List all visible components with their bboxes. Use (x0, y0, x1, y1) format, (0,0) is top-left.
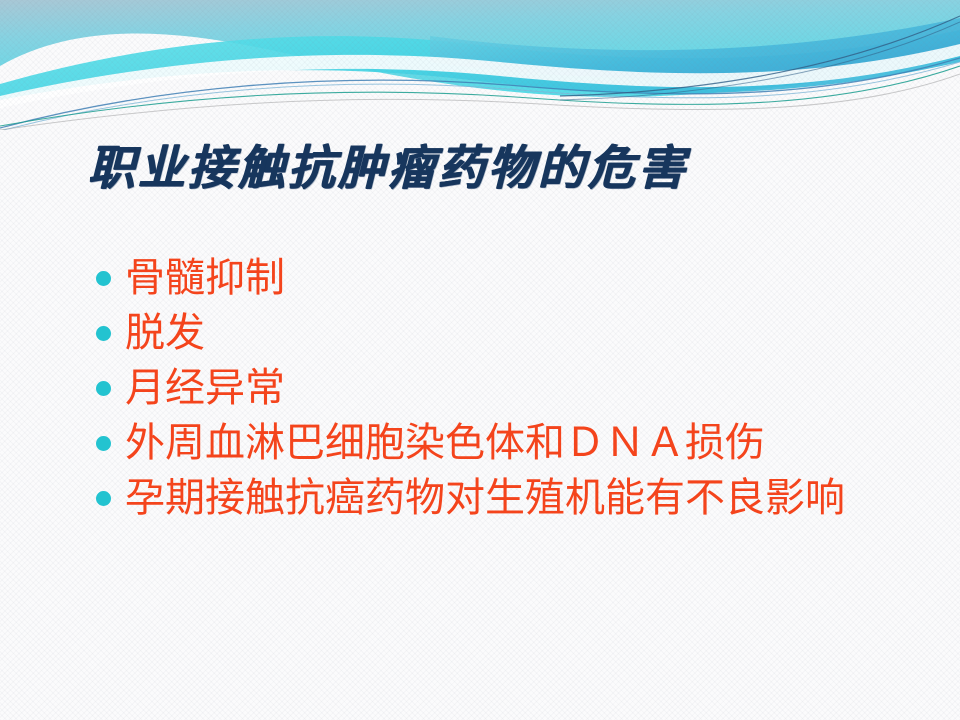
list-item[interactable]: 外周血淋巴细胞染色体和ＤＮＡ损伤 (96, 415, 936, 470)
list-item-label: 脱发 (125, 307, 936, 359)
bullet-list: 骨髓抑制 脱发 月经异常 外周血淋巴细胞染色体和ＤＮＡ损伤 孕期接触抗癌药物对生… (96, 250, 936, 525)
title-block: 职业接触抗肿瘤药物的危害 (88, 138, 888, 204)
list-item[interactable]: 月经异常 (96, 360, 936, 415)
list-item-label: 外周血淋巴细胞染色体和ＤＮＡ损伤 (125, 417, 936, 469)
bullet-dot-icon (96, 436, 111, 451)
list-item[interactable]: 孕期接触抗癌药物对生殖机能有不良影响 (96, 470, 936, 525)
list-item-label: 孕期接触抗癌药物对生殖机能有不良影响 (125, 472, 936, 524)
cyan-wave-banner (0, 0, 960, 130)
list-item[interactable]: 骨髓抑制 (96, 250, 936, 305)
page-title: 职业接触抗肿瘤药物的危害 (88, 138, 888, 200)
bullet-dot-icon (96, 271, 111, 286)
list-item[interactable]: 脱发 (96, 305, 936, 360)
list-item-label: 月经异常 (125, 362, 936, 414)
list-item-label: 骨髓抑制 (125, 252, 936, 304)
bullet-dot-icon (96, 491, 111, 506)
bullet-dot-icon (96, 381, 111, 396)
bullet-dot-icon (96, 326, 111, 341)
presentation-slide: 职业接触抗肿瘤药物的危害 骨髓抑制 脱发 月经异常 外周血淋巴细胞染色体和ＤＮＡ… (0, 0, 960, 720)
